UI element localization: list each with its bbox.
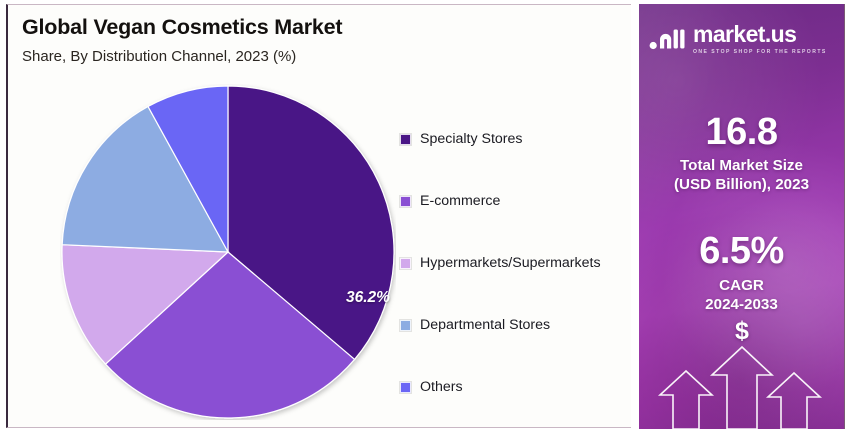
- logo-tagline: ONE STOP SHOP FOR THE REPORTS: [693, 49, 827, 55]
- market-us-logo-mark-icon: [649, 24, 687, 54]
- logo-wordmark: market.us: [693, 23, 796, 46]
- legend-swatch: [400, 382, 411, 393]
- legend-item[interactable]: E-commerce: [400, 170, 640, 232]
- market-size-caption-line2: (USD Billion), 2023: [639, 175, 844, 194]
- arrow-up-right-icon: [768, 373, 820, 429]
- legend-label: Hypermarkets/Supermarkets: [420, 255, 601, 271]
- page-title: Global Vegan Cosmetics Market: [22, 15, 342, 40]
- cagr-caption-line1: CAGR: [639, 276, 844, 295]
- infographic-root: Global Vegan Cosmetics Market Share, By …: [0, 0, 848, 434]
- chart-panel: Global Vegan Cosmetics Market Share, By …: [6, 4, 631, 428]
- legend-label: Others: [420, 379, 463, 395]
- market-us-logo[interactable]: market.us ONE STOP SHOP FOR THE REPORTS: [649, 23, 827, 55]
- market-size-value: 16.8: [639, 113, 844, 151]
- legend-label: E-commerce: [420, 193, 500, 209]
- pie-slice-label-specialty-stores: 36.2%: [346, 289, 390, 307]
- brand-stats-panel: market.us ONE STOP SHOP FOR THE REPORTS …: [639, 4, 845, 429]
- chart-legend: Specialty StoresE-commerceHypermarkets/S…: [400, 108, 640, 418]
- legend-label: Specialty Stores: [420, 131, 523, 147]
- pie-slice-group: [62, 86, 394, 418]
- legend-item[interactable]: Departmental Stores: [400, 294, 640, 356]
- chart-subtitle: Share, By Distribution Channel, 2023 (%): [22, 48, 296, 65]
- market-size-caption: Total Market Size (USD Billion), 2023: [639, 156, 844, 194]
- pie-chart: 36.2%: [60, 84, 396, 420]
- legend-swatch: [400, 320, 411, 331]
- legend-swatch: [400, 258, 411, 269]
- pie-chart-svg: [60, 84, 396, 420]
- arrow-up-center-icon: [712, 347, 772, 429]
- legend-swatch: [400, 134, 411, 145]
- legend-item[interactable]: Others: [400, 356, 640, 418]
- cagr-value: 6.5%: [639, 232, 844, 270]
- logo-text-block: market.us ONE STOP SHOP FOR THE REPORTS: [693, 23, 827, 55]
- dollar-sign-icon: $: [639, 317, 845, 346]
- arrow-up-left-icon: [660, 371, 712, 429]
- legend-label: Departmental Stores: [420, 317, 550, 333]
- legend-swatch: [400, 196, 411, 207]
- legend-item[interactable]: Hypermarkets/Supermarkets: [400, 232, 640, 294]
- legend-item[interactable]: Specialty Stores: [400, 108, 640, 170]
- growth-arrows-graphic: $: [639, 309, 845, 429]
- market-size-caption-line1: Total Market Size: [639, 156, 844, 175]
